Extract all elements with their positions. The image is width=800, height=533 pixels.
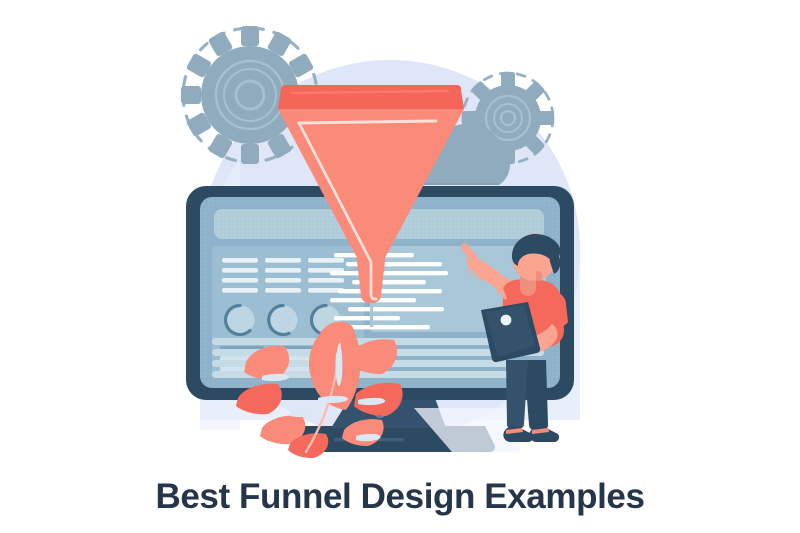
illustration-page: Best Funnel Design Examples [0,0,800,533]
progress-ring-1 [225,306,254,335]
shoe-left [503,426,533,442]
funnel-analytics-illustration [0,0,800,533]
shoe-right [529,426,559,442]
progress-ring-2 [269,306,298,335]
